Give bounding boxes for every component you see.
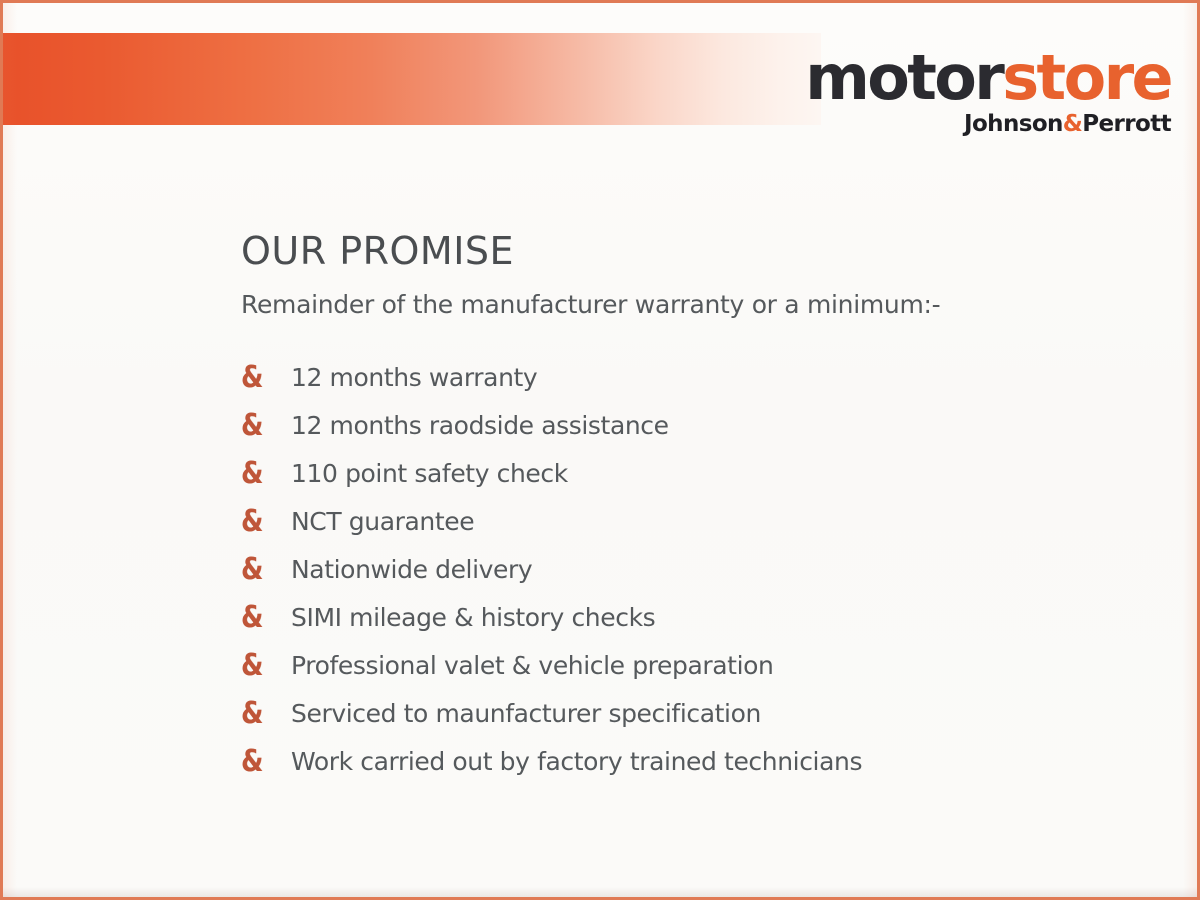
list-item: & Professional valet & vehicle preparati… — [241, 642, 1141, 690]
list-item-label: Serviced to maunfacturer specification — [291, 700, 761, 728]
ampersand-bullet-icon: & — [241, 459, 284, 489]
header-band: motorstore Johnson&Perrott — [3, 33, 1197, 125]
promise-content: OUR PROMISE Remainder of the manufacture… — [241, 231, 1141, 786]
list-item-label: 12 months raodside assistance — [291, 412, 669, 440]
list-item: & SIMI mileage & history checks — [241, 594, 1141, 642]
ampersand-bullet-icon: & — [241, 411, 284, 441]
ampersand-bullet-icon: & — [241, 699, 284, 729]
list-item: & NCT guarantee — [241, 498, 1141, 546]
list-item-label: Professional valet & vehicle preparation — [291, 652, 773, 680]
ampersand-bullet-icon: & — [241, 747, 284, 777]
list-item: & Work carried out by factory trained te… — [241, 738, 1141, 786]
list-item: & 12 months warranty — [241, 354, 1141, 402]
logo-word-motor: motor — [805, 41, 1002, 114]
list-item-label: 12 months warranty — [291, 364, 537, 392]
ampersand-bullet-icon: & — [241, 651, 284, 681]
logo-ampersand-icon: & — [1063, 111, 1082, 137]
ampersand-bullet-icon: & — [241, 507, 284, 537]
ampersand-bullet-icon: & — [241, 363, 284, 393]
logo-sub-perrott: Perrott — [1082, 111, 1171, 137]
orange-gradient-bar — [3, 33, 821, 125]
list-item: & Serviced to maunfacturer specification — [241, 690, 1141, 738]
list-item-label: SIMI mileage & history checks — [291, 604, 655, 632]
list-item-label: 110 point safety check — [291, 460, 568, 488]
list-item: & 110 point safety check — [241, 450, 1141, 498]
promise-slide: motorstore Johnson&Perrott OUR PROMISE R… — [0, 0, 1200, 900]
ampersand-bullet-icon: & — [241, 603, 284, 633]
logo-word-store: store — [1002, 41, 1171, 114]
list-item-label: Nationwide delivery — [291, 556, 532, 584]
promise-list: & 12 months warranty & 12 months raodsid… — [241, 354, 1141, 786]
list-item: & 12 months raodside assistance — [241, 402, 1141, 450]
logo-subtitle: Johnson&Perrott — [805, 113, 1171, 136]
promise-subtitle: Remainder of the manufacturer warranty o… — [241, 291, 1141, 320]
logo-sub-johnson: Johnson — [964, 111, 1063, 137]
list-item-label: Work carried out by factory trained tech… — [291, 748, 862, 776]
page-title: OUR PROMISE — [241, 231, 1141, 273]
list-item-label: NCT guarantee — [291, 508, 474, 536]
motorstore-logo: motorstore Johnson&Perrott — [805, 47, 1171, 136]
logo-wordmark: motorstore — [805, 47, 1171, 109]
ampersand-bullet-icon: & — [241, 555, 284, 585]
list-item: & Nationwide delivery — [241, 546, 1141, 594]
